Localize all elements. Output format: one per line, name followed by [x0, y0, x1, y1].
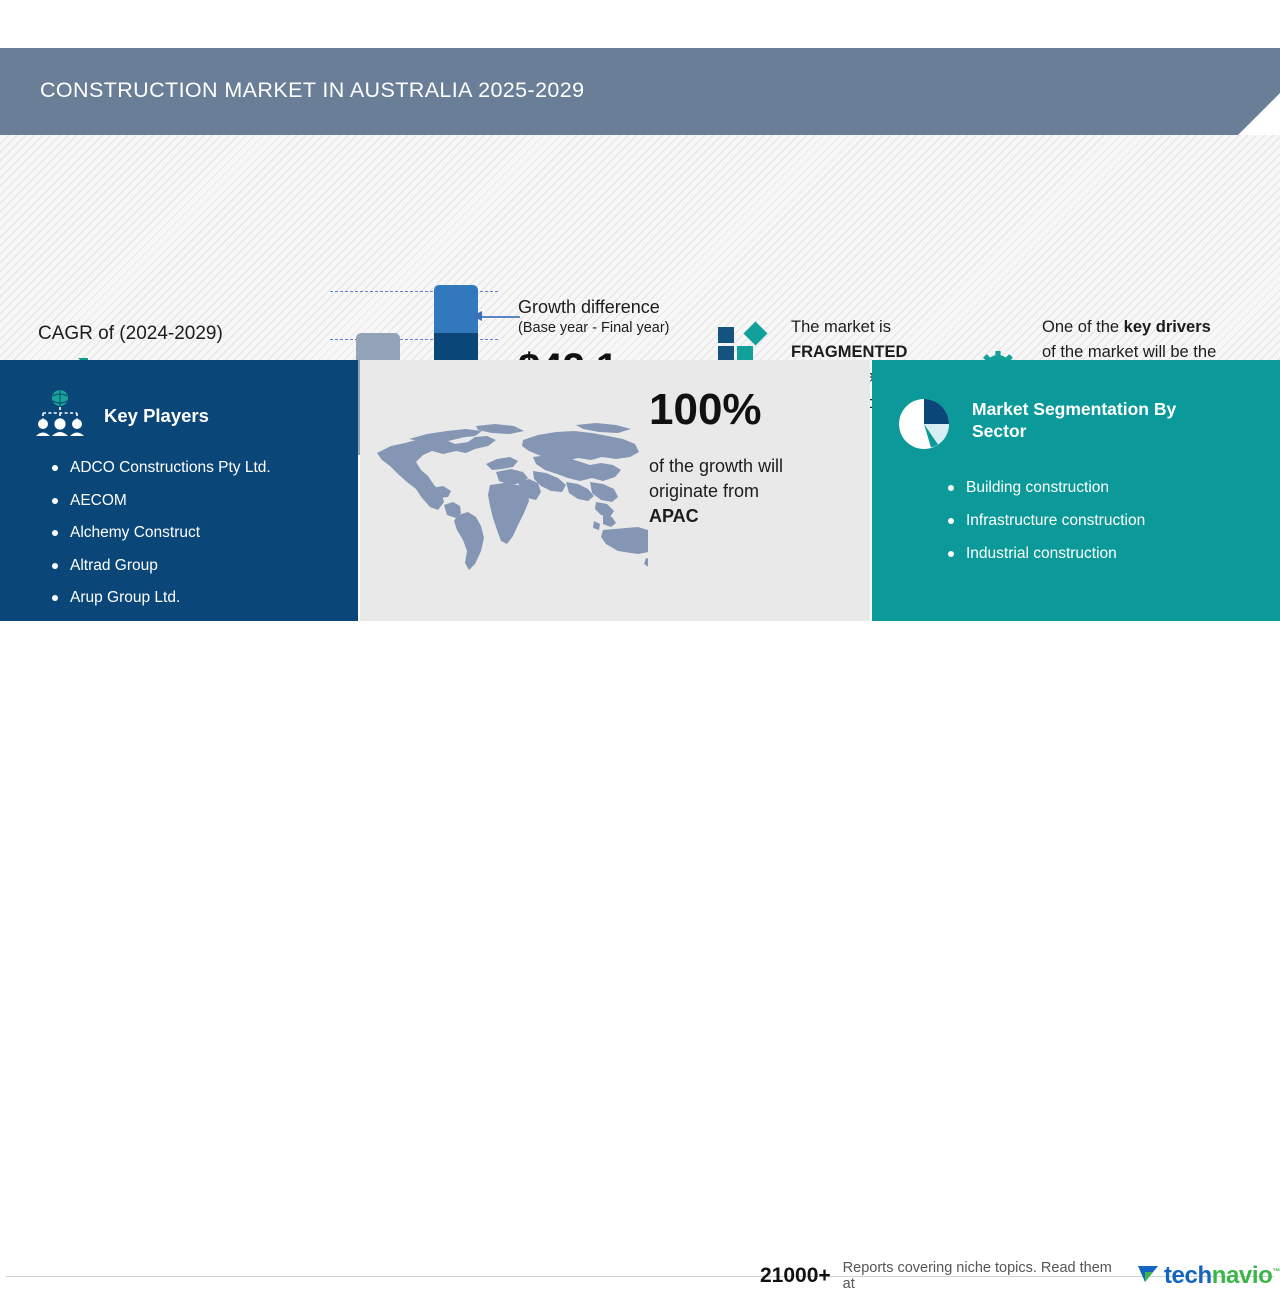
- segmentation-list: Building construction Infrastructure con…: [872, 479, 1280, 563]
- growth-difference-title: Growth difference: [518, 297, 723, 318]
- footer: 21000+ Reports covering niche topics. Re…: [0, 624, 1280, 720]
- list-item: ADCO Constructions Pty Ltd.: [52, 459, 358, 477]
- apac-growth-block: 100% of the growth will originate from A…: [649, 388, 849, 530]
- list-item: AECOM: [52, 492, 358, 510]
- key-players-title: Key Players: [104, 405, 209, 427]
- footer-content: 21000+ Reports covering niche topics. Re…: [760, 1260, 1280, 1292]
- globe-people-network-icon: [34, 390, 86, 441]
- growth-difference-subtitle: (Base year - Final year): [518, 320, 723, 337]
- segmentation-title: Market Segmentation By Sector: [972, 398, 1222, 443]
- list-item: Industrial construction: [948, 545, 1280, 563]
- world-map-icon: [368, 422, 648, 572]
- key-players-panel: Key Players ADCO Constructions Pty Ltd. …: [0, 360, 358, 621]
- market-segmentation-panel: Market Segmentation By Sector Building c…: [872, 360, 1280, 621]
- apac-line-1: of the growth will: [649, 456, 783, 476]
- list-item: Infrastructure construction: [948, 512, 1280, 530]
- technavio-wordmark: technavio™: [1164, 1262, 1280, 1290]
- list-item: Arup Group Ltd.: [52, 589, 358, 607]
- frag-line-1: The market is: [791, 318, 891, 336]
- region-growth-panel: 100% of the growth will originate from A…: [360, 360, 870, 621]
- list-item: Alchemy Construct: [52, 524, 358, 542]
- page-title: CONSTRUCTION MARKET IN AUSTRALIA 2025-20…: [40, 78, 585, 103]
- segmentation-header: Market Segmentation By Sector: [898, 398, 1280, 455]
- logo-text-tech: tech: [1164, 1262, 1212, 1289]
- frag-line-2: FRAGMENTED: [791, 343, 907, 361]
- apac-region-name: APAC: [649, 506, 699, 526]
- drivers-line-1-pre: One of the: [1042, 318, 1124, 336]
- logo-text-navio: navio: [1212, 1262, 1273, 1289]
- apac-percent: 100%: [649, 388, 849, 432]
- apac-line-2: originate from: [649, 481, 759, 501]
- list-item: Building construction: [948, 479, 1280, 497]
- key-players-header: Key Players: [34, 390, 358, 441]
- logo-trademark: ™: [1272, 1267, 1280, 1276]
- footer-message: Reports covering niche topics. Read them…: [843, 1260, 1118, 1292]
- top-metrics-strip: CAGR of (2024-2029) 3.5%: [0, 135, 1280, 360]
- reports-count: 21000+: [760, 1264, 831, 1288]
- pie-chart-icon: [898, 398, 950, 455]
- drivers-line-1-bold: key drivers: [1124, 318, 1211, 336]
- bar-2029-growth-segment: [434, 285, 478, 333]
- technavio-arrow-icon: [1136, 1263, 1160, 1290]
- key-players-list: ADCO Constructions Pty Ltd. AECOM Alchem…: [0, 459, 358, 607]
- left-arrow-icon: [472, 311, 520, 323]
- apac-description: of the growth will originate from APAC: [649, 454, 849, 530]
- cagr-label: CAGR of (2024-2029): [38, 323, 223, 345]
- drivers-line-2: of the market will be the: [1042, 343, 1216, 361]
- list-item: Altrad Group: [52, 557, 358, 575]
- technavio-logo[interactable]: technavio™: [1136, 1262, 1280, 1290]
